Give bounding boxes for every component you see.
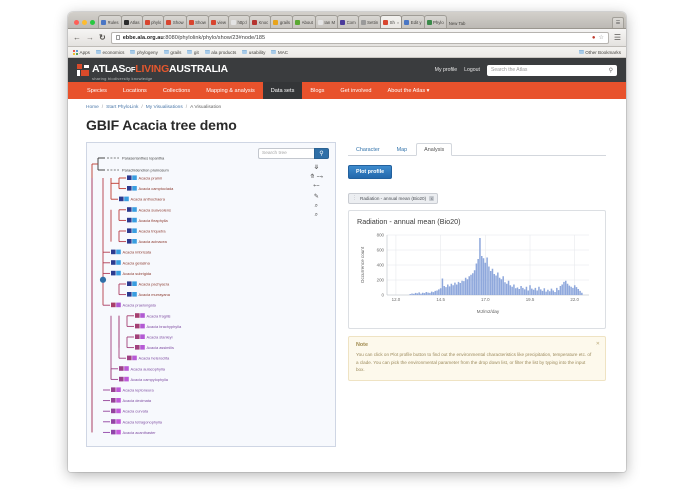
histogram-bar <box>438 289 440 295</box>
taxon-label[interactable]: Acacia fragilis <box>147 313 171 318</box>
histogram-bar <box>415 293 417 295</box>
taxon-label[interactable]: Acacia gelasina <box>123 260 151 265</box>
trait-swatch-b[interactable] <box>116 260 121 265</box>
breadcrumb-item-a-visualisation: A Visualisation <box>190 105 221 110</box>
histogram-bar <box>536 291 538 296</box>
trait-swatch-a[interactable] <box>127 356 132 361</box>
trait-swatch-b[interactable] <box>140 345 145 350</box>
trait-swatch-a[interactable] <box>127 292 132 297</box>
zoom-in-icon[interactable]: ⌕ <box>315 203 318 209</box>
tab-map[interactable]: Map <box>389 143 416 156</box>
tab-favicon-icon <box>145 20 150 25</box>
histogram-bar <box>552 291 554 296</box>
phylogenetic-tree-panel[interactable]: Search tree ⚲ ⤋ ⤊ ⤍ ⤌ ✎ ⌕ ⌕ P <box>86 142 336 447</box>
bookmark-label: economics <box>102 50 124 55</box>
reload-icon[interactable]: ↻ <box>99 33 106 42</box>
bookmark-usability[interactable]: usability <box>242 50 265 55</box>
taxon-label[interactable]: Acacia acinacea <box>139 239 168 244</box>
x-tick-label: 14.5 <box>436 297 445 302</box>
chart-title: Radiation - annual mean (Bio20) <box>357 217 597 226</box>
folder-icon <box>205 50 210 54</box>
histogram-bar <box>524 289 526 295</box>
histogram-bar <box>531 289 533 295</box>
back-arrow-icon[interactable]: ← <box>73 34 81 42</box>
histogram-bar <box>447 285 449 296</box>
histogram-bar <box>504 282 506 295</box>
tab-favicon-icon <box>361 20 366 25</box>
histogram-bar <box>502 276 504 295</box>
browser-tab[interactable]: Show <box>186 15 209 28</box>
tab-label: Phylo <box>433 20 444 25</box>
bookmark-label: MAC <box>278 50 288 55</box>
bookmark-label: grails <box>170 50 181 55</box>
drag-handle-icon[interactable]: ⋮ <box>352 196 357 201</box>
folder-icon <box>271 50 276 54</box>
pan-left-icon[interactable]: ⤊ <box>310 174 315 180</box>
zoom-out-icon[interactable]: ⌕ <box>315 212 318 218</box>
histogram-bar <box>527 291 529 296</box>
histogram-bar <box>452 285 454 295</box>
pan-right-icon[interactable]: ⤍ <box>317 174 323 180</box>
apps-grid-icon <box>73 50 78 55</box>
trait-swatch-b[interactable] <box>116 398 121 403</box>
taxon-label[interactable]: Acacia curvata <box>123 409 149 414</box>
bookmark-git[interactable]: git <box>187 50 198 55</box>
new-tab-button[interactable]: New Tab <box>446 21 469 28</box>
selected-node-marker[interactable] <box>100 277 106 283</box>
search-icon[interactable]: ⚲ <box>609 67 613 74</box>
histogram-bar <box>581 293 583 295</box>
trait-swatch-b[interactable] <box>132 218 137 223</box>
histogram-bar <box>535 288 537 295</box>
trait-swatch-b[interactable] <box>132 281 137 286</box>
trait-swatch-b[interactable] <box>116 430 121 435</box>
histogram-bar <box>440 288 442 295</box>
parameter-tag[interactable]: ⋮ Radiation - annual mean (Bio20) x <box>348 193 438 204</box>
nav-item-label: Locations <box>123 88 147 94</box>
histogram-bar <box>449 286 451 295</box>
taxon-label[interactable]: Acacia subrigida <box>123 271 152 276</box>
histogram-bar <box>501 279 503 295</box>
taxon-label[interactable]: Acacia tetragonophylla <box>123 419 163 424</box>
histogram-bar <box>576 287 578 295</box>
site-header: ATLASOFLIVINGAUSTRALIA sharing biodivers… <box>68 58 626 82</box>
bookmarks-bar: Apps economics phylogeny grails git ala … <box>68 47 626 58</box>
trait-swatch-b[interactable] <box>140 324 145 329</box>
tab-label: Ian M <box>324 20 335 25</box>
taxon-label[interactable]: Acacia acanthaster <box>123 430 157 435</box>
tab-favicon-icon <box>124 20 129 25</box>
histogram-bar <box>477 259 479 295</box>
histogram-bar <box>526 287 528 295</box>
page-viewport: ATLASOFLIVINGAUSTRALIA sharing biodivers… <box>68 58 626 472</box>
taxon-label[interactable]: Acacia aulacophylla <box>131 366 166 371</box>
browser-tab[interactable]: view <box>208 15 229 28</box>
breadcrumb-item-my-visualisations[interactable]: My Visualisations <box>146 105 183 110</box>
plot-profile-row: Plot profile <box>348 156 606 179</box>
tab-label: view <box>217 20 226 25</box>
trait-swatch-a[interactable] <box>127 228 132 233</box>
close-tab-icon[interactable]: × <box>397 20 399 25</box>
trait-swatch-b[interactable] <box>124 377 129 382</box>
histogram-bar <box>483 258 485 295</box>
histogram-bar <box>538 287 540 295</box>
outgroup-label[interactable]: Paraserianthes lopantha <box>122 155 165 160</box>
y-tick-label: 800 <box>377 233 385 238</box>
histogram-bar <box>540 289 542 295</box>
maximize-window-button[interactable] <box>90 20 95 25</box>
trait-swatch-a[interactable] <box>111 250 116 255</box>
browser-tab[interactable]: Phylo <box>424 15 447 28</box>
ala-logo[interactable]: ATLASOFLIVINGAUSTRALIA sharing biodivers… <box>77 60 228 81</box>
histogram-bar <box>465 278 467 295</box>
tab-label: About <box>302 20 313 25</box>
histogram-bar <box>520 286 522 295</box>
tab-favicon-icon <box>340 20 345 25</box>
histogram-bar <box>506 284 508 295</box>
histogram-bar <box>510 285 512 295</box>
chart-card: Radiation - annual mean (Bio20) 02004006… <box>348 210 606 329</box>
trait-swatch-a[interactable] <box>135 313 140 318</box>
trait-swatch-a[interactable] <box>135 334 140 339</box>
histogram-bar <box>544 288 546 295</box>
trait-swatch-a[interactable] <box>119 377 124 382</box>
taxon-label[interactable]: Acacia brachyphylla <box>147 324 182 329</box>
pencil-icon[interactable]: ✎ <box>314 194 319 200</box>
trait-swatch-b[interactable] <box>132 292 137 297</box>
folder-icon <box>242 50 247 54</box>
trait-swatch-b[interactable] <box>132 239 137 244</box>
histogram-bar <box>488 267 490 296</box>
pan-down-icon[interactable]: ⤌ <box>313 183 319 189</box>
page-document-icon <box>116 35 120 40</box>
histogram-chart: 020040060080012.014.517.019.522.0MJ/m2/d… <box>357 229 597 315</box>
taxon-label[interactable]: Acacia assimilis <box>147 345 175 350</box>
bookmark-label: Apps <box>80 50 90 55</box>
trait-swatch-b[interactable] <box>116 271 121 276</box>
atlas-search-placeholder: Search the Atlas <box>491 67 527 73</box>
bookmark-label: phylogeny <box>137 50 158 55</box>
tab-label: Atlas <box>130 20 140 25</box>
tab-label: Com <box>347 20 356 25</box>
histogram-bar <box>479 238 481 295</box>
trait-swatch-b[interactable] <box>132 186 137 191</box>
tree-search-button[interactable]: ⚲ <box>314 148 329 159</box>
main-navigation: SpeciesLocationsCollectionsMapping & ana… <box>68 82 626 99</box>
histogram-bar <box>411 294 413 296</box>
blocked-plugin-icon[interactable]: ● <box>592 35 596 41</box>
trait-swatch-b[interactable] <box>140 334 145 339</box>
close-window-button[interactable] <box>74 20 79 25</box>
atlas-search-input[interactable]: Search the Atlas ⚲ <box>487 65 617 76</box>
tab-label: http:/ <box>237 20 247 25</box>
histogram-bar <box>570 287 572 295</box>
histogram-bar <box>460 283 462 295</box>
plot-profile-button[interactable]: Plot profile <box>348 165 392 179</box>
histogram-bar <box>424 293 426 295</box>
outgroup-label[interactable]: Parachidendron pruinosum <box>122 167 169 172</box>
histogram-bar <box>513 285 515 296</box>
address-bar[interactable]: ebbe.ala.org.au:8080/phylolink/phylo/sho… <box>111 32 609 44</box>
histogram-bar <box>547 290 549 295</box>
histogram-bar <box>558 290 560 295</box>
nav-item-get-involved[interactable]: Get involved <box>332 82 379 99</box>
browser-tab[interactable]: Sh× <box>380 15 402 28</box>
nav-item-mapping-analysis[interactable]: Mapping & analysis <box>198 82 263 99</box>
trait-swatch-a[interactable] <box>127 175 132 180</box>
panel-tabs: CharacterMapAnalysis <box>348 142 606 156</box>
histogram-bar <box>458 282 460 295</box>
taxon-label[interactable]: Acacia murrayana <box>139 292 171 297</box>
tab-favicon-icon <box>101 20 106 25</box>
nav-item-collections[interactable]: Collections <box>155 82 198 99</box>
tab-favicon-icon <box>427 20 432 25</box>
histogram-bar <box>493 274 495 295</box>
logout-link[interactable]: Logout <box>464 67 480 73</box>
tab-label: phylo <box>151 20 161 25</box>
folder-icon <box>579 50 584 54</box>
histogram-bar <box>474 270 476 295</box>
trait-swatch-a[interactable] <box>119 197 124 202</box>
histogram-bar <box>436 291 438 296</box>
browser-tab-strip: RulesAtlasphyloShowShowviewhttp:/Knocgra… <box>68 12 626 29</box>
forward-arrow-icon[interactable]: → <box>86 34 94 42</box>
browser-tab[interactable]: Edit y <box>401 15 424 28</box>
ala-wordmark: ATLASOFLIVINGAUSTRALIA sharing biodivers… <box>92 60 228 81</box>
browser-tab[interactable]: Show <box>163 15 186 28</box>
histogram-bar <box>563 282 565 295</box>
tab-label: Settin <box>367 20 378 25</box>
histogram-bar <box>529 285 531 295</box>
pan-up-icon[interactable]: ⤋ <box>314 165 319 171</box>
header-utility-links: My profile Logout Search the Atlas ⚲ <box>435 65 617 76</box>
tree-diagram[interactable]: Paraserianthes lopanthaParachidendron pr… <box>87 143 336 447</box>
trait-swatch-a[interactable] <box>127 218 132 223</box>
trait-swatch-b[interactable] <box>124 197 129 202</box>
tab-label: Map <box>397 147 408 153</box>
chart-canvas: 020040060080012.014.517.019.522.0MJ/m2/d… <box>357 229 597 320</box>
other-bookmarks-folder[interactable]: Other Bookmarks <box>579 50 621 55</box>
bookmark-mac[interactable]: MAC <box>271 50 288 55</box>
url-path: :8080/phylolink/phylo/show/23#node/185 <box>164 35 265 41</box>
trait-swatch-a[interactable] <box>111 387 116 392</box>
browser-tab[interactable]: About <box>292 15 316 28</box>
histogram-bar <box>517 288 519 296</box>
taxon-label[interactable]: Acacia camptoclada <box>139 186 175 191</box>
histogram-bar <box>443 286 445 295</box>
other-bookmarks-label: Other Bookmarks <box>585 50 621 55</box>
browser-tab[interactable]: Ian M <box>315 15 338 28</box>
tab-favicon-icon <box>295 20 300 25</box>
trait-swatch-b[interactable] <box>132 228 137 233</box>
parameter-tag-row: ⋮ Radiation - annual mean (Bio20) x <box>348 186 606 204</box>
taxon-label[interactable]: Acacia suaveolens <box>139 207 171 212</box>
histogram-bar <box>472 273 474 295</box>
trait-swatch-a[interactable] <box>119 366 124 371</box>
histogram-bar <box>422 293 424 295</box>
taxon-label[interactable]: Acacia prainii <box>139 176 162 181</box>
bookmark-star-icon[interactable]: ☆ <box>598 34 603 41</box>
close-icon[interactable]: ✕ <box>596 341 600 347</box>
bookmark-economics[interactable]: economics <box>96 50 124 55</box>
y-tick-label: 200 <box>377 278 385 283</box>
taxon-label[interactable]: Acacia heteroclita <box>139 356 171 361</box>
trait-swatch-a[interactable] <box>111 430 116 435</box>
trait-swatch-a[interactable] <box>111 419 116 424</box>
histogram-bar <box>569 286 571 295</box>
bookmark-ala-products[interactable]: ala products <box>205 50 237 55</box>
trait-swatch-b[interactable] <box>132 356 137 361</box>
histogram-bar <box>485 263 487 295</box>
browser-tab[interactable]: Settin <box>358 15 382 28</box>
browser-tab[interactable]: http:/ <box>228 15 250 28</box>
browser-tab[interactable]: Knoc <box>249 15 271 28</box>
trait-swatch-b[interactable] <box>116 250 121 255</box>
histogram-bar <box>456 285 458 296</box>
tab-favicon-icon <box>231 20 236 25</box>
histogram-bar <box>461 281 463 295</box>
taxon-label[interactable]: Acacia campylophylla <box>131 377 169 382</box>
histogram-bar <box>574 285 576 295</box>
note-box: ✕ Note You can click on Plot profile but… <box>348 336 606 381</box>
trait-swatch-a[interactable] <box>111 271 116 276</box>
minimize-window-button[interactable] <box>82 20 87 25</box>
nav-item-label: Collections <box>163 88 190 94</box>
tab-label: grails <box>280 20 290 25</box>
page-title: GBIF Acacia tree demo <box>68 110 626 133</box>
folder-icon <box>96 50 101 54</box>
browser-toolbar: ← → ↻ ebbe.ala.org.au:8080/phylolink/phy… <box>68 29 626 47</box>
trait-swatch-a[interactable] <box>127 207 132 212</box>
tab-favicon-icon <box>318 20 323 25</box>
nav-item-blogs[interactable]: Blogs <box>302 82 332 99</box>
chrome-menu-icon[interactable]: ☰ <box>614 33 621 42</box>
window-traffic-lights[interactable] <box>70 20 98 28</box>
tab-favicon-icon <box>273 20 278 25</box>
histogram-bar <box>454 283 456 295</box>
nav-item-about-the-atlas[interactable]: About the Atlas ▾ <box>379 82 437 99</box>
tab-label: Analysis <box>424 147 444 153</box>
tab-character[interactable]: Character <box>348 143 388 156</box>
taxon-label[interactable]: Acacia leptoneura <box>123 388 155 393</box>
tree-search-input[interactable]: Search tree <box>258 148 314 159</box>
trait-swatch-b[interactable] <box>124 366 129 371</box>
window-menu-icon[interactable]: ☰ <box>612 17 624 28</box>
trait-swatch-b[interactable] <box>116 419 121 424</box>
trait-swatch-a[interactable] <box>127 281 132 286</box>
breadcrumb-item-home[interactable]: Home <box>86 105 99 110</box>
nav-item-data-sets[interactable]: Data sets <box>263 82 303 99</box>
url-text: ebbe.ala.org.au:8080/phylolink/phylo/sho… <box>123 35 265 41</box>
x-tick-label: 22.0 <box>570 297 579 302</box>
trait-swatch-b[interactable] <box>140 313 145 318</box>
browser-tab[interactable]: phylo <box>142 15 165 28</box>
trait-swatch-a[interactable] <box>111 303 116 308</box>
taxon-label[interactable]: Acacia pachyacra <box>139 282 171 287</box>
remove-parameter-icon[interactable]: x <box>429 196 434 201</box>
tab-favicon-icon <box>211 20 216 25</box>
nav-item-species[interactable]: Species <box>79 82 115 99</box>
histogram-bar <box>431 292 433 295</box>
tab-label: Show <box>173 20 184 25</box>
taxon-label[interactable]: Acacia triquetra <box>139 229 167 234</box>
histogram-bar <box>427 293 429 295</box>
bookmark-label: usability <box>249 50 266 55</box>
trait-swatch-b[interactable] <box>116 303 121 308</box>
note-body: You can click on Plot profile button to … <box>356 351 598 374</box>
x-axis-label: MJ/m2/day <box>477 309 500 314</box>
histogram-bar <box>409 294 411 295</box>
trait-swatch-a[interactable] <box>127 186 132 191</box>
tab-label: Sh <box>390 20 395 25</box>
trait-swatch-b[interactable] <box>116 387 121 392</box>
brand-tagline: sharing biodiversity knowledge <box>92 77 228 81</box>
tab-analysis[interactable]: Analysis <box>416 143 452 156</box>
trait-swatch-b[interactable] <box>116 409 121 414</box>
y-tick-label: 400 <box>377 263 385 268</box>
browser-tab[interactable]: Rules <box>98 15 122 28</box>
nav-item-label: About the Atlas ▾ <box>387 88 429 94</box>
pan-horizontal-controls: ⤊ ⤍ <box>310 174 323 180</box>
url-domain: ebbe.ala.org.au <box>123 35 164 41</box>
trait-swatch-a[interactable] <box>127 239 132 244</box>
histogram-bar <box>499 278 501 295</box>
browser-tab[interactable]: Atlas <box>121 15 143 28</box>
ala-logo-mark <box>77 64 89 76</box>
taxon-label[interactable]: Acacia anthochaera <box>131 197 166 202</box>
tab-label: Edit y <box>411 20 422 25</box>
histogram-bar <box>565 281 567 295</box>
brand-australia: AUSTRALIA <box>169 63 228 75</box>
bookmark-phylogeny[interactable]: phylogeny <box>130 50 157 55</box>
trait-swatch-b[interactable] <box>132 207 137 212</box>
nav-item-label: Get involved <box>340 88 371 94</box>
histogram-bar <box>490 271 492 295</box>
trait-swatch-a[interactable] <box>111 398 116 403</box>
breadcrumb-item-start-phylolink[interactable]: Start PhyloLink <box>106 105 138 110</box>
taxon-label[interactable]: Acacia praelongata <box>123 303 157 308</box>
trait-swatch-a[interactable] <box>111 409 116 414</box>
bookmark-grails[interactable]: grails <box>164 50 181 55</box>
taxon-label[interactable]: Acacia imbricata <box>123 250 152 255</box>
histogram-bar <box>486 258 488 296</box>
histogram-bar <box>420 294 422 295</box>
nav-item-locations[interactable]: Locations <box>115 82 155 99</box>
my-profile-link[interactable]: My profile <box>435 67 458 73</box>
taxon-label[interactable]: Acacia stanleyi <box>147 335 173 340</box>
browser-tab[interactable]: grails <box>270 15 293 28</box>
histogram-bar <box>519 289 521 295</box>
browser-tab[interactable]: Com <box>337 15 359 28</box>
trait-swatch-a[interactable] <box>135 345 140 350</box>
histogram-bar <box>495 276 497 296</box>
trait-swatch-b[interactable] <box>132 175 137 180</box>
histogram-bar <box>497 273 499 296</box>
trait-swatch-a[interactable] <box>135 324 140 329</box>
brand-living: LIVING <box>135 63 169 75</box>
brand-of: OF <box>125 65 135 74</box>
tab-label: Knoc <box>259 20 269 25</box>
x-tick-label: 17.0 <box>481 297 490 302</box>
histogram-bar <box>429 293 431 295</box>
histogram-bar <box>492 269 494 295</box>
histogram-bar <box>533 290 535 295</box>
taxon-label[interactable]: Acacia decimata <box>123 398 152 403</box>
bookmark-apps[interactable]: Apps <box>73 50 90 55</box>
taxon-label[interactable]: Acacia fleaphylla <box>139 218 169 223</box>
tree-controls: ⤋ ⤊ ⤍ ⤌ ✎ ⌕ ⌕ <box>310 165 323 218</box>
trait-swatch-a[interactable] <box>111 260 116 265</box>
